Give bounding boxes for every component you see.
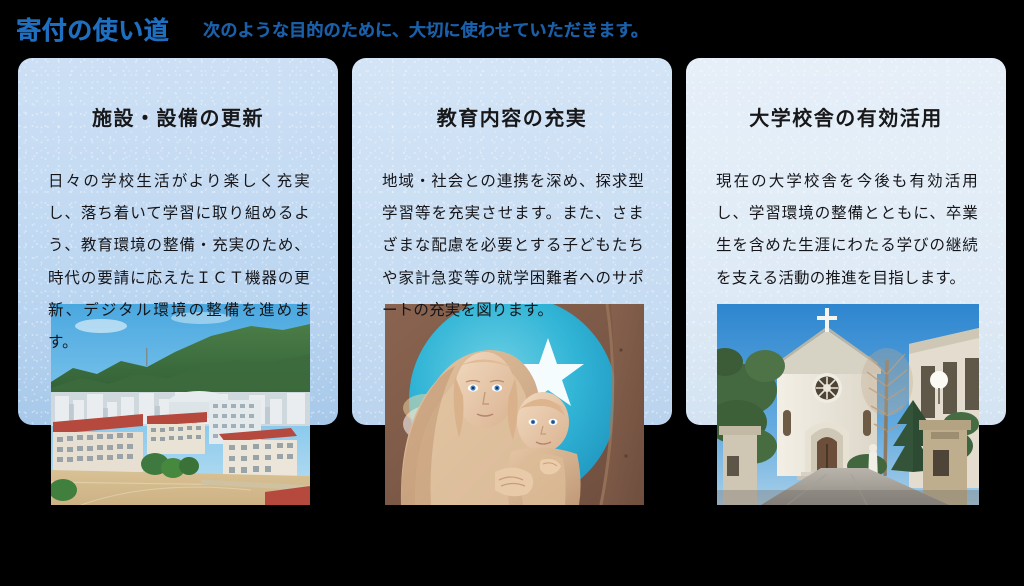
card-university-building[interactable]: 大学校舎の有効活用 現在の大学校舎を今後も有効活用し、学習環境の整備とともに、卒… bbox=[686, 58, 1006, 586]
madonna-and-child-statue-photo bbox=[385, 304, 644, 505]
card-body-text: 現在の大学校舎を今後も有効活用し、学習環境の整備とともに、卒業生を含めた生涯にわ… bbox=[716, 166, 978, 295]
page-header: 寄付の使い道 次のような目的のために、大切に使わせていただきます。 bbox=[0, 0, 1024, 58]
card-facilities[interactable]: 施設・設備の更新 日々の学校生活がより楽しく充実し、落ち着いて学習に取り組めるよ… bbox=[18, 58, 338, 586]
chapel-exterior-photo bbox=[717, 304, 979, 505]
card-body-text: 日々の学校生活がより楽しく充実し、落ち着いて学習に取り組めるよう、教育環境の整備… bbox=[48, 166, 310, 359]
card-title: 教育内容の充実 bbox=[352, 102, 672, 131]
card-body-text: 地域・社会との連携を深め、探求型学習等を充実させます。また、さまざまな配慮を必要… bbox=[382, 166, 644, 327]
card-grid: 施設・設備の更新 日々の学校生活がより楽しく充実し、落ち着いて学習に取り組めるよ… bbox=[0, 58, 1024, 586]
card-title: 施設・設備の更新 bbox=[18, 102, 338, 131]
page-title: 寄付の使い道 bbox=[16, 11, 169, 47]
madonna-and-child-illustration bbox=[385, 304, 644, 505]
card-title: 大学校舎の有効活用 bbox=[686, 102, 1006, 131]
page-subtitle: 次のような目的のために、大切に使わせていただきます。 bbox=[203, 16, 648, 42]
chapel-exterior-illustration bbox=[717, 304, 979, 505]
card-education[interactable]: 教育内容の充実 地域・社会との連携を深め、探求型学習等を充実させます。また、さま… bbox=[352, 58, 672, 586]
